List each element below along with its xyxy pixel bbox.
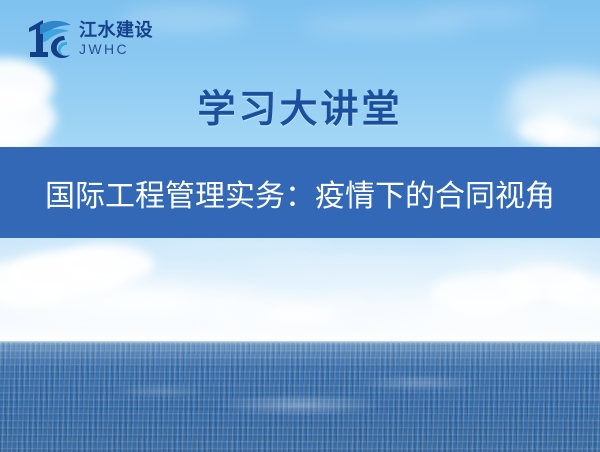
company-logo: 江水建设 JWHC	[27, 17, 187, 61]
ocean-horizon-sheen	[0, 343, 600, 369]
cloud-wisp	[360, 310, 540, 328]
cloud-wisp	[250, 252, 450, 272]
title-banner: 国际工程管理实务：疫情下的合同视角	[0, 147, 600, 238]
cloud-wisp	[420, 4, 540, 24]
logo-company-name-en: JWHC	[79, 42, 153, 56]
banner-title-text: 国际工程管理实务：疫情下的合同视角	[45, 171, 555, 215]
cloud	[58, 244, 154, 284]
jwhc-wave-mark-icon	[27, 18, 73, 60]
cloud-wisp	[150, 236, 330, 254]
logo-company-name-cn: 江水建设	[79, 22, 153, 40]
poster-image: 江水建设 JWHC 学习大讲堂 国际工程管理实务：疫情下的合同视角	[0, 0, 600, 452]
logo-wordmark: 江水建设 JWHC	[79, 22, 153, 56]
page-title: 学习大讲堂	[0, 78, 600, 133]
cloud-wisp	[196, 312, 326, 328]
cloud-wisp	[440, 246, 590, 268]
